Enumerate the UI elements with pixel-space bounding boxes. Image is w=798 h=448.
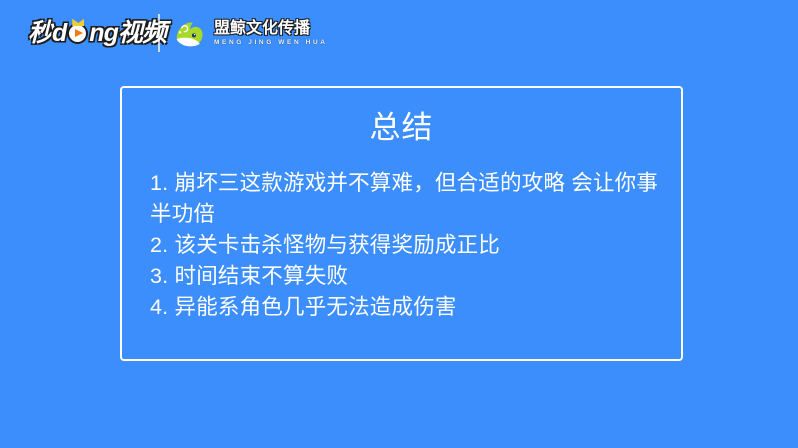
secondary-brand-name-cn: 盟鲸文化传播 <box>214 21 328 37</box>
secondary-brand-wordmark: 盟鲸文化传播 MENG JING WEN HUA <box>214 21 328 47</box>
primary-brand-text: 秒dng视频 <box>28 18 166 48</box>
brand-divider <box>158 14 160 52</box>
primary-brand-prefix: 秒 <box>28 19 52 47</box>
crown-icon <box>72 18 84 26</box>
whale-logo-icon <box>170 15 208 53</box>
video-slide-screen: 秒dng视频 盟鲸文化传播 MENG JING WEN HUA 总结 1. 崩坏… <box>0 0 798 448</box>
primary-brand-letter-d: d <box>52 19 66 47</box>
list-item: 2. 该关卡击杀怪物与获得奖励成正比 <box>150 230 663 261</box>
play-button-icon <box>67 23 88 44</box>
primary-brand-letters-ng: ng <box>89 19 118 47</box>
list-item: 1. 崩坏三这款游戏并不算难，但合适的攻略 会让你事半功倍 <box>150 168 663 230</box>
list-item: 3. 时间结束不算失败 <box>150 261 663 292</box>
primary-brand-logo: 秒dng视频 <box>28 18 166 48</box>
summary-card: 总结 1. 崩坏三这款游戏并不算难，但合适的攻略 会让你事半功倍 2. 该关卡击… <box>120 86 683 361</box>
summary-bullet-list: 1. 崩坏三这款游戏并不算难，但合适的攻略 会让你事半功倍 2. 该关卡击杀怪物… <box>150 168 663 323</box>
slide-title: 总结 <box>122 108 681 148</box>
brand-header: 秒dng视频 盟鲸文化传播 MENG JING WEN HUA <box>0 0 798 66</box>
secondary-brand-logo: 盟鲸文化传播 MENG JING WEN HUA <box>170 14 328 54</box>
secondary-brand-name-pinyin: MENG JING WEN HUA <box>214 40 328 47</box>
list-item: 4. 异能系角色几乎无法造成伤害 <box>150 292 663 323</box>
whale-eye <box>192 33 196 37</box>
whale-bubble <box>179 31 181 33</box>
whale-eye-glint <box>194 34 195 35</box>
